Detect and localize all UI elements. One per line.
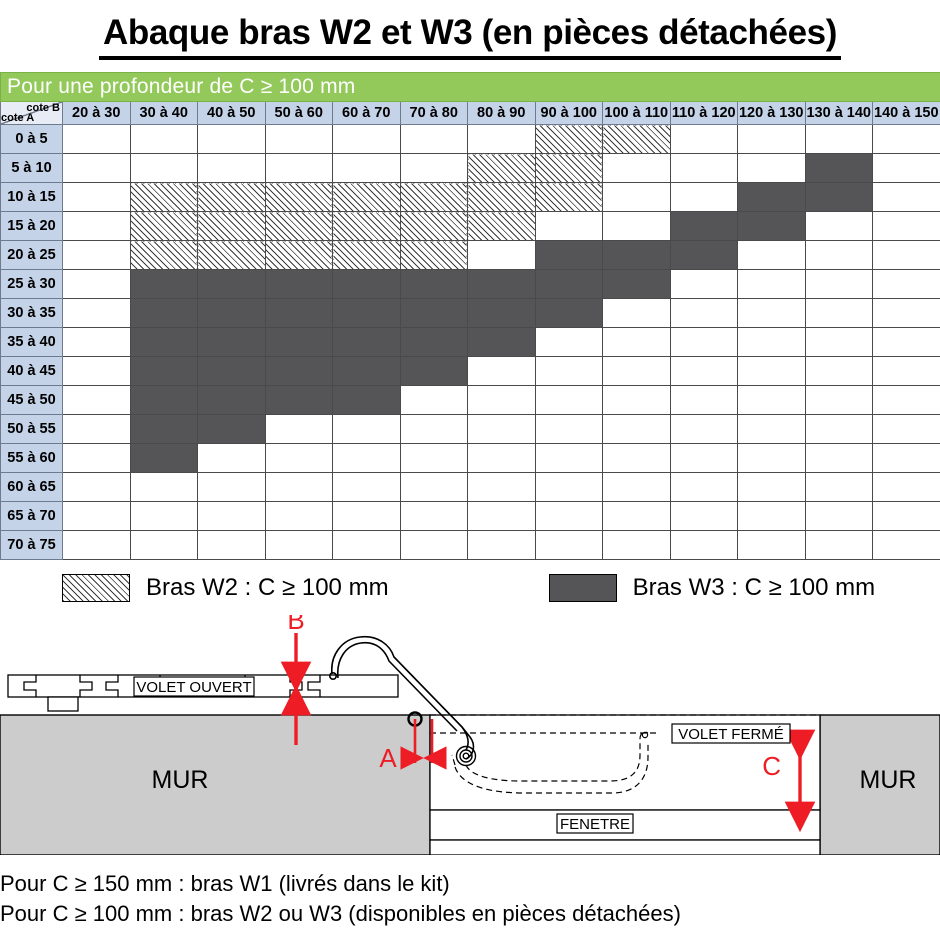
matrix-cell-empty[interactable] (265, 154, 333, 183)
matrix-cell-empty[interactable] (400, 386, 468, 415)
corner-axis-cell: cote B cote A (1, 102, 63, 125)
matrix-cell-w2[interactable] (198, 212, 266, 241)
column-header-10: 120 à 130 (738, 102, 806, 125)
matrix-row: 65 à 70 (1, 502, 940, 531)
matrix-cell-empty[interactable] (198, 531, 266, 560)
column-header-9: 110 à 120 (670, 102, 738, 125)
matrix-cell-empty[interactable] (738, 357, 806, 386)
column-header-row: cote B cote A 20 à 3030 à 4040 à 5050 à … (1, 102, 940, 125)
matrix-cell-empty[interactable] (468, 473, 536, 502)
matrix-cell-empty[interactable] (535, 473, 603, 502)
matrix-cell-empty[interactable] (535, 502, 603, 531)
matrix-cell-w3[interactable] (333, 270, 401, 299)
matrix-cell-empty[interactable] (805, 328, 873, 357)
matrix-cell-empty[interactable] (670, 473, 738, 502)
matrix-cell-empty[interactable] (805, 531, 873, 560)
matrix-cell-empty[interactable] (873, 531, 940, 560)
matrix-cell-w2[interactable] (333, 183, 401, 212)
matrix-cell-empty[interactable] (670, 328, 738, 357)
matrix-cell-empty[interactable] (805, 241, 873, 270)
matrix-cell-empty[interactable] (738, 531, 806, 560)
matrix-cell-empty[interactable] (265, 415, 333, 444)
matrix-cell-empty[interactable] (873, 212, 940, 241)
matrix-row: 45 à 50 (1, 386, 940, 415)
column-header-11: 130 à 140 (805, 102, 873, 125)
matrix-cell-w2[interactable] (198, 241, 266, 270)
matrix-cell-empty[interactable] (738, 444, 806, 473)
matrix-cell-w2[interactable] (468, 212, 536, 241)
matrix-cell-w3[interactable] (198, 357, 266, 386)
matrix-cell-w2[interactable] (535, 183, 603, 212)
column-header-7: 90 à 100 (535, 102, 603, 125)
matrix-cell-empty[interactable] (873, 154, 940, 183)
row-header-14: 70 à 75 (1, 531, 63, 560)
matrix-cell-empty[interactable] (873, 473, 940, 502)
matrix-cell-w3[interactable] (670, 241, 738, 270)
matrix-cell-empty[interactable] (63, 125, 131, 154)
matrix-cell-empty[interactable] (873, 299, 940, 328)
column-header-5: 70 à 80 (400, 102, 468, 125)
matrix-cell-empty[interactable] (333, 502, 401, 531)
matrix-cell-w3[interactable] (468, 328, 536, 357)
matrix-cell-empty[interactable] (535, 444, 603, 473)
matrix-body: 0 à 55 à 1010 à 1515 à 2020 à 2525 à 303… (1, 125, 940, 560)
matrix-row: 5 à 10 (1, 154, 940, 183)
legend-label-w3: Bras W3 : C ≥ 100 mm (633, 574, 876, 602)
matrix-cell-empty[interactable] (603, 212, 671, 241)
matrix-cell-empty[interactable] (63, 270, 131, 299)
matrix-cell-empty[interactable] (468, 125, 536, 154)
matrix-cell-w3[interactable] (468, 270, 536, 299)
matrix-cell-empty[interactable] (603, 531, 671, 560)
matrix-cell-empty[interactable] (535, 212, 603, 241)
matrix-cell-empty[interactable] (63, 212, 131, 241)
matrix-cell-empty[interactable] (873, 183, 940, 212)
cross-section-diagram: B A C VOLET OUVERT VOLET FERMÉ FENETRE M… (0, 615, 940, 855)
row-header-6: 30 à 35 (1, 299, 63, 328)
legend-item-w2: Bras W2 : C ≥ 100 mm (62, 574, 389, 602)
dimension-c-label: C (762, 751, 781, 781)
matrix-cell-empty[interactable] (873, 502, 940, 531)
matrix-cell-empty[interactable] (535, 386, 603, 415)
matrix-cell-empty[interactable] (670, 531, 738, 560)
matrix-cell-empty[interactable] (535, 415, 603, 444)
matrix-cell-empty[interactable] (873, 125, 940, 154)
column-header-2: 40 à 50 (198, 102, 266, 125)
matrix-cell-empty[interactable] (265, 125, 333, 154)
matrix-cell-w3[interactable] (265, 270, 333, 299)
mur-left-label: MUR (152, 766, 209, 794)
fenetre-label: FENETRE (560, 816, 630, 833)
matrix-row: 25 à 30 (1, 270, 940, 299)
matrix-cell-w2[interactable] (400, 241, 468, 270)
matrix-cell-empty[interactable] (738, 154, 806, 183)
matrix-row: 10 à 15 (1, 183, 940, 212)
matrix-cell-empty[interactable] (333, 531, 401, 560)
matrix-cell-empty[interactable] (400, 415, 468, 444)
matrix-cell-empty[interactable] (63, 502, 131, 531)
matrix-cell-empty[interactable] (63, 241, 131, 270)
green-banner: Pour une profondeur de C ≥ 100 mm (1, 73, 940, 102)
matrix-cell-w2[interactable] (265, 183, 333, 212)
matrix-head: Pour une profondeur de C ≥ 100 mm cote B… (1, 73, 940, 125)
matrix-cell-w3[interactable] (535, 299, 603, 328)
matrix-cell-empty[interactable] (670, 444, 738, 473)
matrix-cell-empty[interactable] (333, 154, 401, 183)
matrix-row: 30 à 35 (1, 299, 940, 328)
matrix-cell-empty[interactable] (805, 502, 873, 531)
matrix-cell-w2[interactable] (468, 183, 536, 212)
wall-left-block (0, 715, 430, 855)
footer-note-w1: Pour C ≥ 150 mm : bras W1 (livrés dans l… (0, 869, 940, 899)
row-header-7: 35 à 40 (1, 328, 63, 357)
matrix-cell-w3[interactable] (198, 415, 266, 444)
matrix-cell-w3[interactable] (400, 357, 468, 386)
matrix-cell-w2[interactable] (603, 125, 671, 154)
matrix-cell-empty[interactable] (333, 415, 401, 444)
matrix-cell-empty[interactable] (400, 125, 468, 154)
matrix-cell-empty[interactable] (265, 531, 333, 560)
row-header-1: 5 à 10 (1, 154, 63, 183)
matrix-cell-w3[interactable] (265, 299, 333, 328)
matrix-cell-w3[interactable] (400, 328, 468, 357)
matrix-cell-empty[interactable] (63, 154, 131, 183)
matrix-cell-empty[interactable] (130, 125, 198, 154)
matrix-row: 15 à 20 (1, 212, 940, 241)
matrix-cell-w3[interactable] (400, 270, 468, 299)
matrix-cell-w3[interactable] (198, 270, 266, 299)
column-header-1: 30 à 40 (130, 102, 198, 125)
matrix-cell-empty[interactable] (63, 183, 131, 212)
matrix-cell-empty[interactable] (333, 125, 401, 154)
matrix-cell-empty[interactable] (400, 154, 468, 183)
column-header-12: 140 à 150 (873, 102, 940, 125)
column-header-0: 20 à 30 (63, 102, 131, 125)
matrix-cell-w3[interactable] (130, 328, 198, 357)
matrix-cell-empty[interactable] (198, 125, 266, 154)
matrix-cell-empty[interactable] (603, 357, 671, 386)
volet-ouvert-label: VOLET OUVERT (136, 679, 251, 696)
matrix-cell-w3[interactable] (738, 212, 806, 241)
matrix-cell-empty[interactable] (805, 125, 873, 154)
matrix-cell-empty[interactable] (63, 531, 131, 560)
mur-right-label: MUR (860, 766, 917, 794)
row-header-2: 10 à 15 (1, 183, 63, 212)
matrix-cell-empty[interactable] (738, 299, 806, 328)
matrix-cell-empty[interactable] (130, 502, 198, 531)
matrix-cell-w3[interactable] (130, 270, 198, 299)
matrix-cell-empty[interactable] (738, 125, 806, 154)
matrix-cell-empty[interactable] (738, 386, 806, 415)
matrix-cell-empty[interactable] (738, 328, 806, 357)
matrix-cell-empty[interactable] (670, 299, 738, 328)
matrix-cell-w3[interactable] (603, 270, 671, 299)
matrix-cell-w3[interactable] (130, 357, 198, 386)
row-header-0: 0 à 5 (1, 125, 63, 154)
matrix-cell-w2[interactable] (130, 183, 198, 212)
matrix-row: 70 à 75 (1, 531, 940, 560)
matrix-cell-empty[interactable] (400, 444, 468, 473)
matrix-cell-empty[interactable] (333, 473, 401, 502)
matrix-cell-w3[interactable] (198, 328, 266, 357)
column-header-4: 60 à 70 (333, 102, 401, 125)
matrix-cell-empty[interactable] (265, 502, 333, 531)
column-header-8: 100 à 110 (603, 102, 671, 125)
matrix-cell-empty[interactable] (468, 531, 536, 560)
matrix-cell-empty[interactable] (63, 357, 131, 386)
matrix-cell-empty[interactable] (670, 125, 738, 154)
row-header-13: 65 à 70 (1, 502, 63, 531)
dimension-a-label: A (379, 743, 397, 773)
matrix-cell-empty[interactable] (130, 531, 198, 560)
matrix-cell-w2[interactable] (198, 183, 266, 212)
matrix-cell-w2[interactable] (265, 212, 333, 241)
matrix-cell-w2[interactable] (333, 241, 401, 270)
matrix-cell-w2[interactable] (468, 154, 536, 183)
matrix-cell-w3[interactable] (130, 415, 198, 444)
matrix-cell-empty[interactable] (873, 270, 940, 299)
page-title: Abaque bras W2 et W3 (en pièces détachée… (99, 13, 841, 60)
matrix-cell-empty[interactable] (468, 386, 536, 415)
matrix-row: 40 à 45 (1, 357, 940, 386)
matrix-cell-w3[interactable] (468, 299, 536, 328)
matrix-cell-w3[interactable] (265, 357, 333, 386)
matrix-cell-empty[interactable] (63, 444, 131, 473)
matrix-cell-w3[interactable] (198, 386, 266, 415)
matrix-cell-empty[interactable] (670, 357, 738, 386)
matrix-cell-w2[interactable] (130, 212, 198, 241)
title-bar: Abaque bras W2 et W3 (en pièces détachée… (0, 0, 940, 72)
matrix-cell-empty[interactable] (805, 212, 873, 241)
matrix-cell-empty[interactable] (805, 299, 873, 328)
corner-row-label: cote A (1, 112, 34, 124)
matrix-cell-empty[interactable] (805, 444, 873, 473)
matrix-cell-empty[interactable] (738, 415, 806, 444)
matrix-cell-empty[interactable] (400, 531, 468, 560)
legend-swatch-w3-solid (549, 574, 617, 602)
matrix-cell-empty[interactable] (873, 328, 940, 357)
matrix-row: 60 à 65 (1, 473, 940, 502)
abaque-matrix-table: Pour une profondeur de C ≥ 100 mm cote B… (0, 72, 940, 560)
matrix-cell-empty[interactable] (873, 386, 940, 415)
matrix-cell-empty[interactable] (63, 328, 131, 357)
matrix-cell-w2[interactable] (400, 183, 468, 212)
matrix-cell-empty[interactable] (535, 328, 603, 357)
matrix-cell-empty[interactable] (130, 473, 198, 502)
column-header-3: 50 à 60 (265, 102, 333, 125)
matrix-cell-empty[interactable] (63, 415, 131, 444)
matrix-cell-w3[interactable] (738, 183, 806, 212)
matrix-cell-empty[interactable] (130, 154, 198, 183)
matrix-cell-w2[interactable] (265, 241, 333, 270)
matrix-cell-empty[interactable] (468, 444, 536, 473)
matrix-cell-empty[interactable] (670, 154, 738, 183)
matrix-cell-w3[interactable] (603, 241, 671, 270)
matrix-cell-empty[interactable] (603, 299, 671, 328)
matrix-cell-empty[interactable] (198, 473, 266, 502)
matrix-cell-w2[interactable] (535, 154, 603, 183)
row-header-10: 50 à 55 (1, 415, 63, 444)
matrix-cell-empty[interactable] (603, 444, 671, 473)
matrix-cell-w3[interactable] (333, 357, 401, 386)
matrix-cell-w3[interactable] (333, 386, 401, 415)
banner-row: Pour une profondeur de C ≥ 100 mm (1, 73, 940, 102)
row-header-4: 20 à 25 (1, 241, 63, 270)
dimension-b-label: B (287, 615, 304, 635)
legend-label-w2: Bras W2 : C ≥ 100 mm (146, 574, 389, 602)
matrix-cell-empty[interactable] (603, 502, 671, 531)
matrix-cell-empty[interactable] (805, 357, 873, 386)
matrix-cell-empty[interactable] (198, 154, 266, 183)
matrix-cell-empty[interactable] (805, 386, 873, 415)
legend-swatch-w2-hatched (62, 574, 130, 602)
row-header-8: 40 à 45 (1, 357, 63, 386)
matrix-cell-w3[interactable] (535, 270, 603, 299)
row-header-5: 25 à 30 (1, 270, 63, 299)
matrix-cell-empty[interactable] (265, 444, 333, 473)
legend-item-w3: Bras W3 : C ≥ 100 mm (549, 574, 876, 602)
matrix-cell-empty[interactable] (63, 473, 131, 502)
matrix-cell-empty[interactable] (400, 502, 468, 531)
footer-notes: Pour C ≥ 150 mm : bras W1 (livrés dans l… (0, 855, 940, 929)
matrix-row: 55 à 60 (1, 444, 940, 473)
matrix-cell-w3[interactable] (400, 299, 468, 328)
matrix-row: 35 à 40 (1, 328, 940, 357)
matrix-cell-empty[interactable] (603, 415, 671, 444)
row-header-11: 55 à 60 (1, 444, 63, 473)
matrix-cell-w3[interactable] (535, 241, 603, 270)
matrix-cell-empty[interactable] (468, 415, 536, 444)
row-header-3: 15 à 20 (1, 212, 63, 241)
matrix-cell-empty[interactable] (535, 357, 603, 386)
volet-ferme-label: VOLET FERMÉ (678, 726, 784, 743)
matrix-row: 20 à 25 (1, 241, 940, 270)
matrix-row: 50 à 55 (1, 415, 940, 444)
matrix-cell-empty[interactable] (670, 386, 738, 415)
row-header-9: 45 à 50 (1, 386, 63, 415)
matrix-cell-w2[interactable] (400, 212, 468, 241)
matrix-cell-empty[interactable] (873, 444, 940, 473)
matrix-cell-empty[interactable] (805, 473, 873, 502)
matrix-cell-empty[interactable] (468, 241, 536, 270)
matrix-cell-empty[interactable] (670, 415, 738, 444)
matrix-cell-empty[interactable] (333, 444, 401, 473)
matrix-cell-empty[interactable] (670, 502, 738, 531)
matrix-cell-empty[interactable] (603, 473, 671, 502)
matrix-cell-empty[interactable] (265, 473, 333, 502)
matrix-cell-w3[interactable] (805, 154, 873, 183)
matrix-cell-w3[interactable] (333, 299, 401, 328)
matrix-cell-empty[interactable] (738, 502, 806, 531)
matrix-cell-w3[interactable] (265, 386, 333, 415)
matrix-cell-empty[interactable] (535, 531, 603, 560)
row-header-12: 60 à 65 (1, 473, 63, 502)
matrix-row: 0 à 5 (1, 125, 940, 154)
matrix-cell-w3[interactable] (265, 328, 333, 357)
matrix-cell-empty[interactable] (670, 270, 738, 299)
matrix-cell-empty[interactable] (738, 241, 806, 270)
matrix-cell-empty[interactable] (603, 154, 671, 183)
matrix-cell-w2[interactable] (130, 241, 198, 270)
matrix-cell-w3[interactable] (130, 444, 198, 473)
matrix-cell-w2[interactable] (535, 125, 603, 154)
matrix-cell-empty[interactable] (603, 183, 671, 212)
matrix-cell-empty[interactable] (603, 328, 671, 357)
legend: Bras W2 : C ≥ 100 mm Bras W3 : C ≥ 100 m… (0, 560, 940, 615)
matrix-cell-empty[interactable] (468, 502, 536, 531)
matrix-cell-empty[interactable] (670, 183, 738, 212)
matrix-cell-w3[interactable] (333, 328, 401, 357)
matrix-cell-empty[interactable] (738, 473, 806, 502)
matrix-cell-w3[interactable] (670, 212, 738, 241)
matrix-cell-empty[interactable] (873, 357, 940, 386)
matrix-cell-empty[interactable] (873, 241, 940, 270)
matrix-cell-w3[interactable] (130, 386, 198, 415)
matrix-cell-empty[interactable] (468, 357, 536, 386)
matrix-cell-w3[interactable] (805, 183, 873, 212)
matrix-cell-empty[interactable] (603, 386, 671, 415)
matrix-cell-empty[interactable] (738, 270, 806, 299)
matrix-cell-empty[interactable] (400, 473, 468, 502)
column-header-6: 80 à 90 (468, 102, 536, 125)
window-sill-band (430, 840, 820, 855)
matrix-cell-empty[interactable] (805, 270, 873, 299)
footer-note-w2w3: Pour C ≥ 100 mm : bras W2 ou W3 (disponi… (0, 899, 940, 929)
matrix-cell-w3[interactable] (198, 299, 266, 328)
matrix-cell-empty[interactable] (63, 386, 131, 415)
matrix-cell-empty[interactable] (873, 415, 940, 444)
matrix-cell-w3[interactable] (130, 299, 198, 328)
matrix-cell-empty[interactable] (198, 444, 266, 473)
matrix-cell-empty[interactable] (198, 502, 266, 531)
matrix-cell-empty[interactable] (805, 415, 873, 444)
matrix-cell-empty[interactable] (63, 299, 131, 328)
matrix-cell-w2[interactable] (333, 212, 401, 241)
